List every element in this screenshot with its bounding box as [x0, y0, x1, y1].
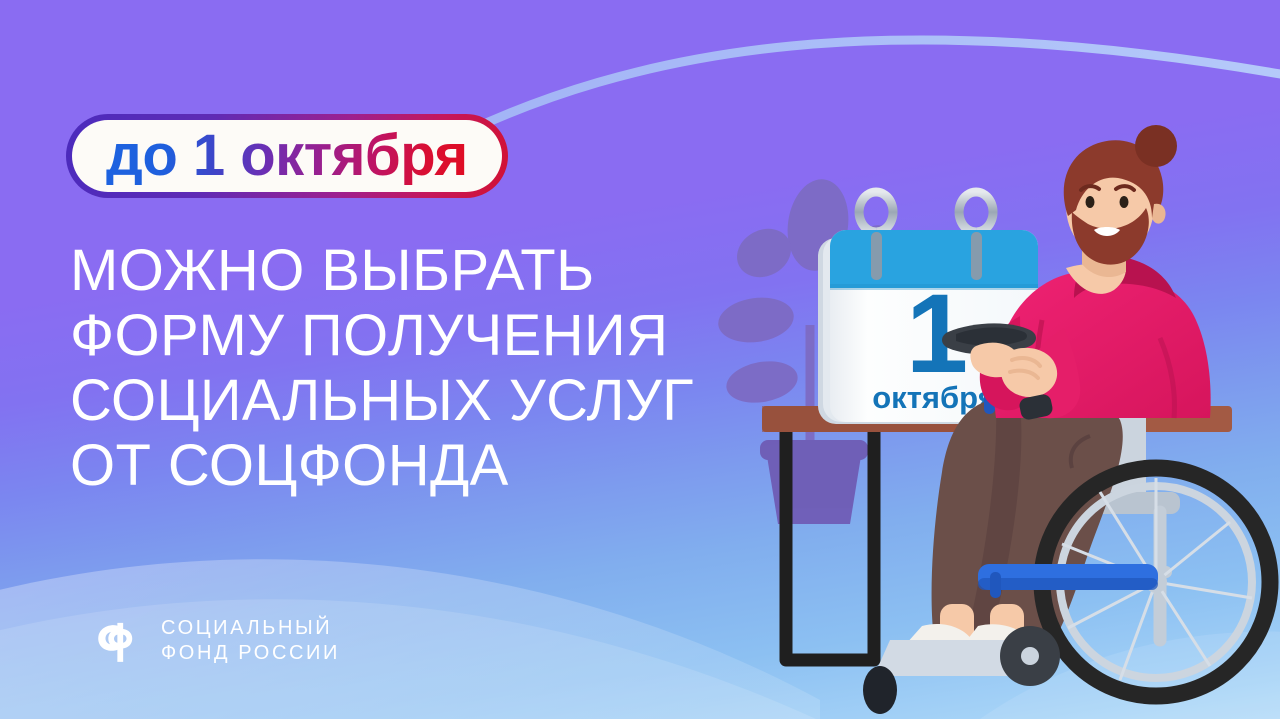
eye-right	[1120, 196, 1129, 208]
trousers	[932, 394, 1123, 640]
plant-leaf	[723, 356, 801, 408]
person-legs	[932, 394, 1123, 640]
ear	[1152, 204, 1166, 224]
person-head	[1064, 125, 1177, 265]
illustration-man-in-wheelchair: 1 октября	[690, 120, 1280, 719]
sfr-logo-text: СОЦИАЛЬНЫЙ ФОНД РОССИИ	[161, 618, 340, 664]
deadline-badge: до 1 октября	[66, 114, 508, 198]
plant-leaf	[715, 293, 796, 347]
armrest-lower-shade	[978, 578, 1158, 590]
eye-left	[1086, 196, 1095, 208]
caster-wheel-front	[863, 666, 897, 714]
hair-bun	[1135, 125, 1177, 167]
deadline-badge-label: до 1 октября	[106, 127, 468, 185]
headline-line-4: ОТ СОЦФОНДА	[70, 433, 770, 498]
armrest-post	[990, 572, 1001, 598]
sfr-monogram-icon	[86, 612, 144, 670]
plant-pot-rim	[760, 440, 868, 460]
headline: МОЖНО ВЫБРАТЬ ФОРМУ ПОЛУЧЕНИЯ СОЦИАЛЬНЫХ…	[70, 238, 770, 498]
promo-banner: до 1 октября МОЖНО ВЫБРАТЬ ФОРМУ ПОЛУЧЕН…	[0, 0, 1280, 719]
logo-line-2: ФОНД РОССИИ	[161, 643, 340, 664]
headline-line-2: ФОРМУ ПОЛУЧЕНИЯ	[70, 303, 770, 368]
logo-line-1: СОЦИАЛЬНЫЙ	[161, 618, 340, 639]
headline-line-1: МОЖНО ВЫБРАТЬ	[70, 238, 770, 303]
sfr-logo: СОЦИАЛЬНЫЙ ФОНД РОССИИ	[86, 612, 340, 670]
caster-hub	[1021, 647, 1039, 665]
headline-line-3: СОЦИАЛЬНЫХ УСЛУГ	[70, 368, 770, 433]
